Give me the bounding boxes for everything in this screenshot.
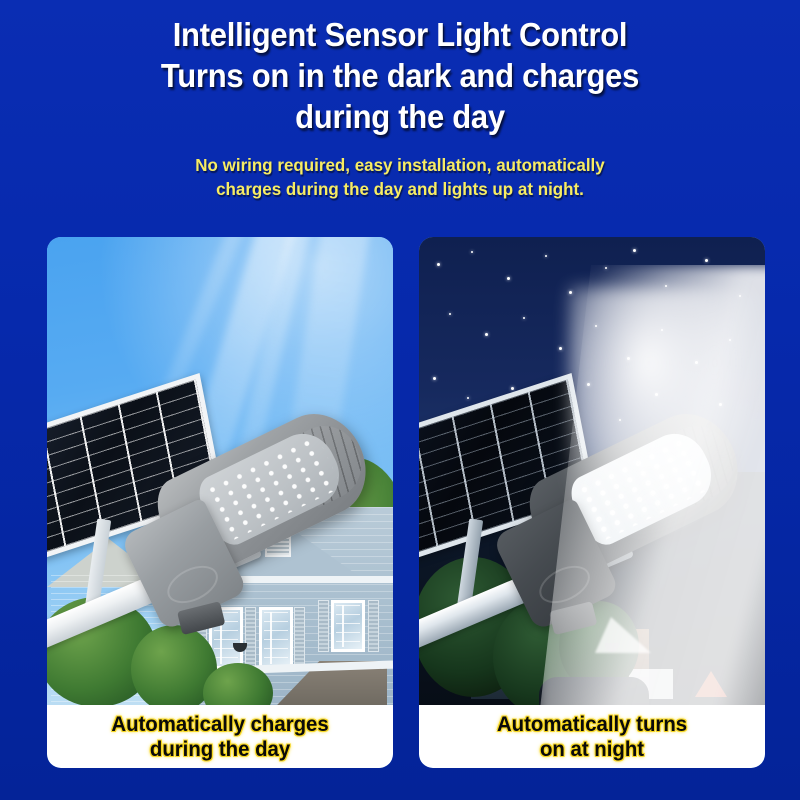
led-chips — [572, 431, 714, 543]
subhead-line-1: No wiring required, easy installation, a… — [80, 153, 720, 177]
panel-row: Automatically charges during the day — [47, 237, 765, 768]
night-photo — [419, 237, 765, 707]
light-beam-edge — [595, 617, 651, 653]
page-subtitle: No wiring required, easy installation, a… — [12, 153, 788, 201]
header-text-block: Intelligent Sensor Light Control Turns o… — [0, 14, 800, 201]
subhead-line-2: charges during the day and lights up at … — [80, 177, 720, 201]
night-caption-bar: Automatically turns on at night — [419, 705, 765, 768]
day-caption-bar: Automatically charges during the day — [47, 705, 393, 768]
solar-street-light-day — [47, 237, 393, 707]
headline-line-1: Intelligent Sensor Light Control — [62, 14, 739, 55]
page-title: Intelligent Sensor Light Control Turns o… — [24, 14, 776, 137]
day-caption-line-2: during the day — [111, 737, 328, 762]
night-caption-text: Automatically turns on at night — [497, 712, 687, 762]
night-caption-line-2: on at night — [497, 737, 687, 762]
product-banner: Intelligent Sensor Light Control Turns o… — [0, 0, 800, 800]
day-caption-text: Automatically charges during the day — [111, 712, 328, 762]
led-chips — [200, 431, 342, 543]
night-caption-line-1: Automatically turns — [497, 712, 687, 737]
headline-line-2: Turns on in the dark and charges — [62, 55, 739, 96]
day-photo — [47, 237, 393, 707]
headline-line-3: during the day — [62, 96, 739, 137]
solar-street-light-night — [419, 237, 765, 707]
light-sensor-icon — [233, 643, 247, 652]
day-panel: Automatically charges during the day — [47, 237, 393, 768]
day-caption-line-1: Automatically charges — [111, 712, 328, 737]
night-panel: Automatically turns on at night — [419, 237, 765, 768]
